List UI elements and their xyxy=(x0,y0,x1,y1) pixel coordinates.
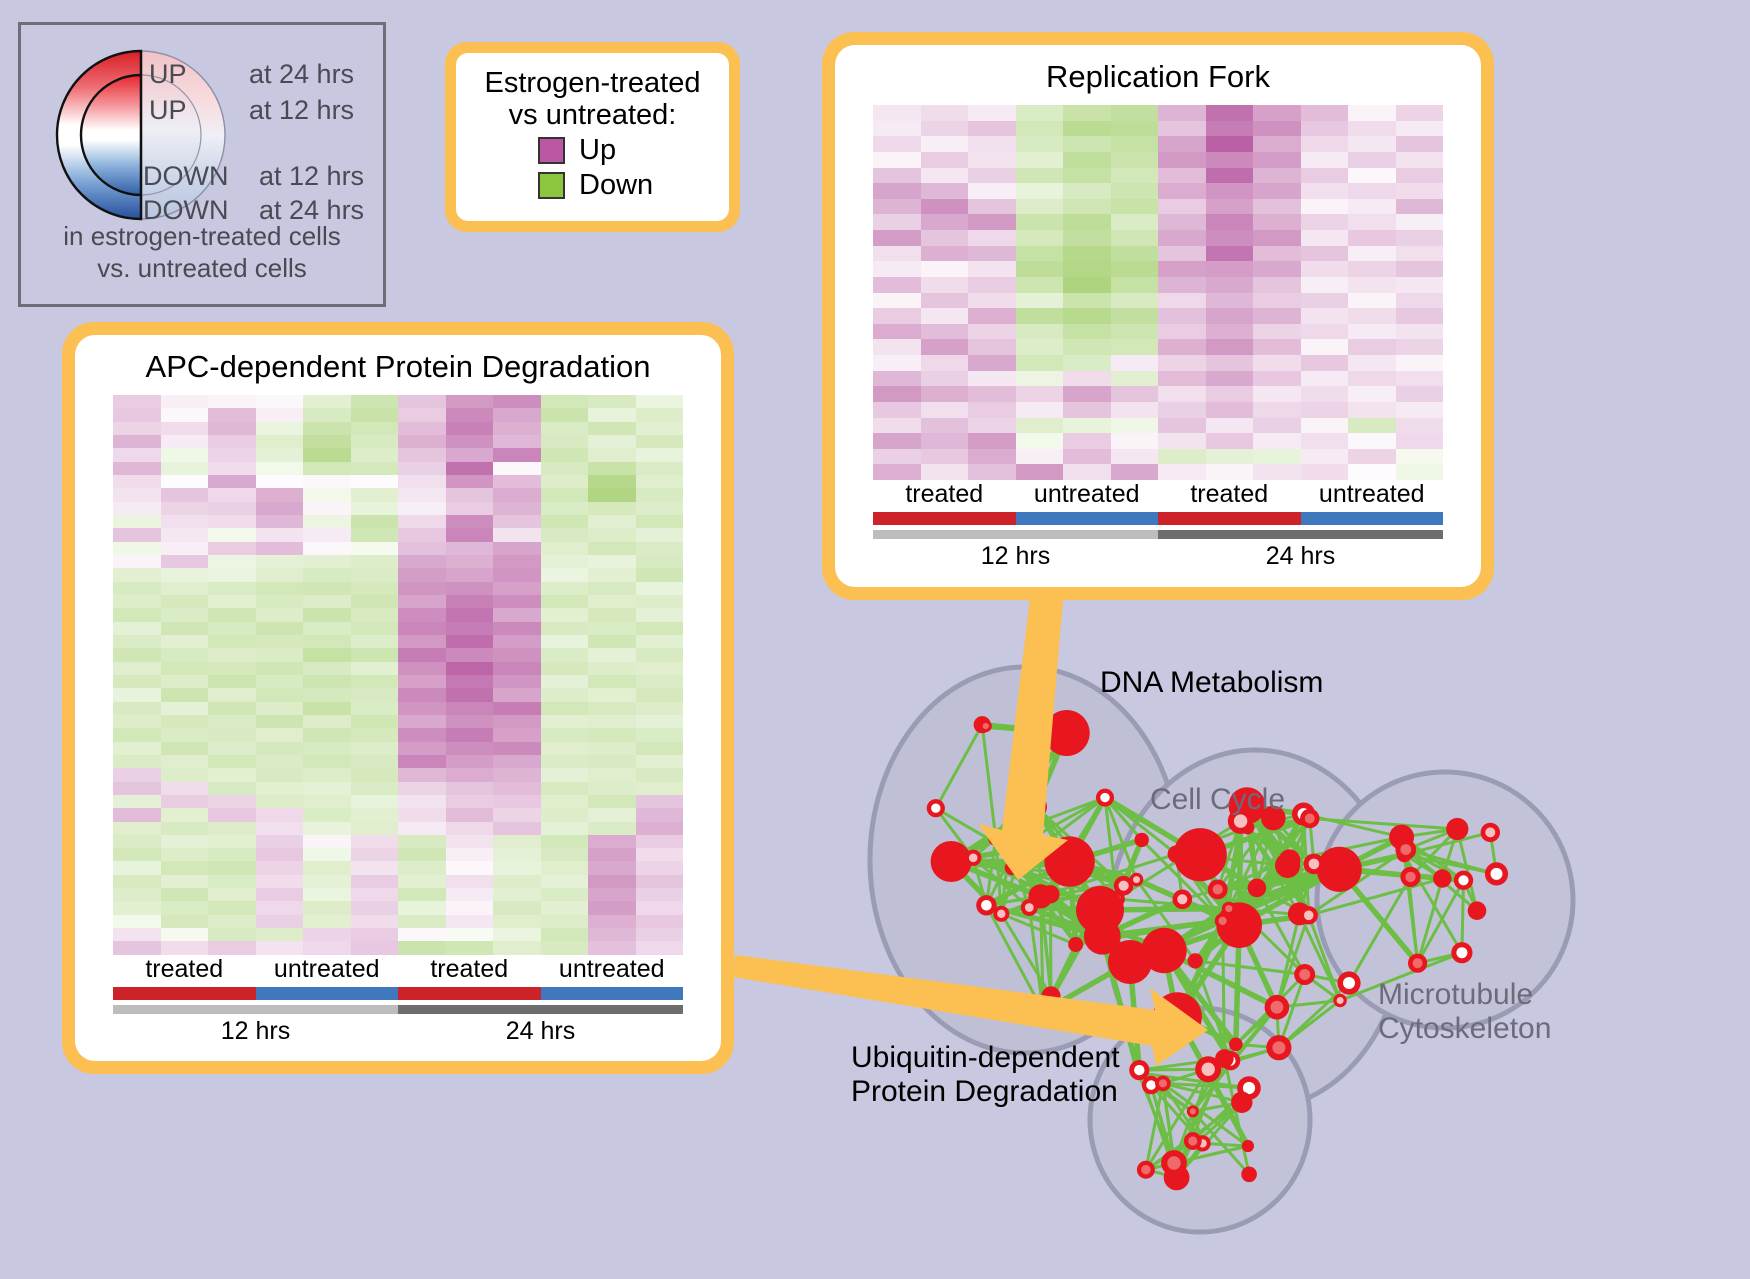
network-node-core xyxy=(1491,868,1503,880)
network-node xyxy=(1168,845,1185,862)
heatmap-cell xyxy=(588,435,636,448)
heatmap-cell xyxy=(1063,246,1111,262)
heatmap-cell xyxy=(303,422,351,435)
heatmap-cell xyxy=(208,888,256,901)
heatmap-cell xyxy=(1348,199,1396,215)
heatmap-cell xyxy=(636,608,684,621)
heatmap-cell xyxy=(113,861,161,874)
heatmap-cell xyxy=(1348,339,1396,355)
heatmap-cell xyxy=(351,742,399,755)
heatmap-cell xyxy=(968,386,1016,402)
bar-untreated-12 xyxy=(1016,512,1159,525)
heatmap-cell xyxy=(256,915,304,928)
heatmap-cell xyxy=(1158,418,1206,434)
heatmap-cell xyxy=(873,355,921,371)
heatmap-cell xyxy=(303,861,351,874)
axis-treatment-bar xyxy=(873,512,1443,525)
heatmap-cell xyxy=(1206,402,1254,418)
cluster-label-microtubule-cytoskeleton: Microtubule Cytoskeleton xyxy=(1378,978,1551,1045)
heatmap-cell xyxy=(636,901,684,914)
heatmap-cell xyxy=(1158,246,1206,262)
heatmap-cell xyxy=(493,462,541,475)
heatmap-cell xyxy=(1396,246,1444,262)
heatmap-cell xyxy=(493,595,541,608)
heatmap-cell xyxy=(161,608,209,621)
heatmap-cell xyxy=(1348,464,1396,480)
heatmap-cell xyxy=(1063,121,1111,137)
heatmap-cell xyxy=(1206,308,1254,324)
bar-treated-24 xyxy=(398,987,541,1000)
heatmap-cell xyxy=(351,422,399,435)
wheel-row-1-time: at 12 hrs xyxy=(249,95,354,126)
heatmap-cell xyxy=(1016,246,1064,262)
network-node xyxy=(1135,833,1149,847)
heatmap-cell xyxy=(161,768,209,781)
heatmap-cell xyxy=(351,755,399,768)
network-node-core xyxy=(1190,1108,1196,1114)
heatmap-cell xyxy=(493,568,541,581)
heatmap-cell xyxy=(303,595,351,608)
heatmap-cell xyxy=(1396,371,1444,387)
heatmap-cell xyxy=(113,542,161,555)
heatmap-cell xyxy=(256,462,304,475)
heatmap-cell xyxy=(541,542,589,555)
heatmap-cell xyxy=(588,408,636,421)
heatmap-cell xyxy=(208,901,256,914)
bar-treated-12 xyxy=(873,512,1016,525)
heatmap-cell xyxy=(208,448,256,461)
axis-group-1: untreated xyxy=(256,955,399,984)
heatmap-cell xyxy=(636,475,684,488)
heatmap-cell xyxy=(208,702,256,715)
heatmap-cell xyxy=(161,755,209,768)
heatmap-cell xyxy=(636,395,684,408)
wheel-row-2-label: DOWN xyxy=(143,161,228,192)
heatmap-cell xyxy=(446,915,494,928)
heatmap-cell xyxy=(446,422,494,435)
network-node-core xyxy=(1146,1080,1156,1090)
heatmap-cell xyxy=(1111,355,1159,371)
heatmap-cell xyxy=(1348,293,1396,309)
heatmap-cell xyxy=(398,675,446,688)
network-node-core xyxy=(1405,872,1415,882)
heatmap-cell xyxy=(493,688,541,701)
heatmap-cell xyxy=(541,608,589,621)
heatmap-cell xyxy=(541,435,589,448)
heatmap-cell xyxy=(921,136,969,152)
heatmap-cell xyxy=(1206,371,1254,387)
heatmap-cell xyxy=(1301,261,1349,277)
bar-treated-12 xyxy=(113,987,256,1000)
heatmap-cell xyxy=(493,742,541,755)
network-node-core xyxy=(997,910,1005,918)
heatmap-cell xyxy=(1063,105,1111,121)
heatmap-cell xyxy=(161,528,209,541)
heatmap-cell xyxy=(1396,277,1444,293)
heatmap-cell xyxy=(398,408,446,421)
heatmap-cell xyxy=(588,648,636,661)
heatmap-cell xyxy=(493,488,541,501)
heatmap-cell xyxy=(208,542,256,555)
network-node xyxy=(1468,901,1487,920)
legend-title-line2: vs untreated: xyxy=(466,99,719,131)
heatmap-cell xyxy=(636,488,684,501)
heatmap-cell xyxy=(493,528,541,541)
heatmap-cell xyxy=(161,928,209,941)
heatmap-cell xyxy=(113,462,161,475)
network-node-core xyxy=(1225,905,1232,912)
heatmap-cell xyxy=(493,502,541,515)
network-node-core xyxy=(1119,881,1129,891)
heatmap-cell xyxy=(446,875,494,888)
heatmap-cell xyxy=(161,835,209,848)
network-node xyxy=(1108,940,1152,984)
heatmap-cell xyxy=(493,662,541,675)
heatmap-cell xyxy=(398,742,446,755)
heatmap-cell xyxy=(493,728,541,741)
heatmap-cell xyxy=(1063,402,1111,418)
apc-degradation-card: APC-dependent Protein Degradation treate… xyxy=(62,322,734,1074)
heatmap-cell xyxy=(1111,136,1159,152)
axis-time-labels: 12 hrs 24 hrs xyxy=(113,1017,683,1046)
heatmap-cell xyxy=(1253,402,1301,418)
heatmap-cell xyxy=(921,230,969,246)
axis-group-0: treated xyxy=(113,955,256,984)
heatmap-cell xyxy=(921,152,969,168)
heatmap-cell xyxy=(1111,433,1159,449)
heatmap-cell xyxy=(446,395,494,408)
heatmap-cell xyxy=(1158,449,1206,465)
network-node-core xyxy=(1343,977,1355,989)
heatmap-cell xyxy=(493,928,541,941)
heatmap-cell xyxy=(1063,261,1111,277)
heatmap-cell xyxy=(256,861,304,874)
heatmap-cell xyxy=(446,608,494,621)
heatmap-cell xyxy=(1111,324,1159,340)
heatmap-cell xyxy=(303,475,351,488)
heatmap-cell xyxy=(1158,402,1206,418)
heatmap-cell xyxy=(636,768,684,781)
heatmap-cell xyxy=(588,795,636,808)
heatmap-cell xyxy=(1111,230,1159,246)
heatmap-cell xyxy=(303,635,351,648)
heatmap-cell xyxy=(161,782,209,795)
heatmap-cell xyxy=(303,622,351,635)
heatmap-cell xyxy=(1016,355,1064,371)
heatmap-cell xyxy=(256,875,304,888)
network-node-core xyxy=(1458,875,1468,885)
network-node-core xyxy=(1213,884,1223,894)
axis-time-1: 24 hrs xyxy=(1158,542,1443,571)
axis-time-bar xyxy=(113,1005,683,1014)
heatmap-cell xyxy=(351,622,399,635)
heatmap-cell xyxy=(921,324,969,340)
heatmap-cell xyxy=(351,542,399,555)
heatmap-cell xyxy=(968,277,1016,293)
heatmap-cell xyxy=(1063,183,1111,199)
heatmap-cell xyxy=(1253,261,1301,277)
heatmap-cell xyxy=(968,246,1016,262)
heatmap-cell xyxy=(303,675,351,688)
heatmap-cell xyxy=(446,408,494,421)
heatmap-cell xyxy=(493,822,541,835)
heatmap-cell xyxy=(1016,386,1064,402)
heatmap-cell xyxy=(493,408,541,421)
heatmap-cell xyxy=(1348,449,1396,465)
heatmap-cell xyxy=(636,848,684,861)
heatmap-cell xyxy=(351,848,399,861)
heatmap-cell xyxy=(1396,324,1444,340)
heatmap-cell xyxy=(921,293,969,309)
heatmap-cell xyxy=(541,648,589,661)
heatmap-cell xyxy=(541,502,589,515)
heatmap-cell xyxy=(446,515,494,528)
heatmap-cell xyxy=(541,635,589,648)
heatmap-cell xyxy=(446,835,494,848)
heatmap-cell xyxy=(113,635,161,648)
heatmap-cell xyxy=(1206,324,1254,340)
heatmap-cell xyxy=(541,848,589,861)
heatmap-cell xyxy=(588,782,636,795)
heatmap-cell xyxy=(398,608,446,621)
heatmap-cell xyxy=(588,755,636,768)
network-node-core xyxy=(1134,1065,1144,1075)
heatmap-cell xyxy=(446,448,494,461)
heatmap-cell xyxy=(351,648,399,661)
network-node xyxy=(1188,953,1203,968)
legend-item-down: Down xyxy=(538,169,719,202)
heatmap-cell xyxy=(588,475,636,488)
heatmap-cell xyxy=(303,835,351,848)
replication-fork-axis: treated untreated treated untreated 12 h… xyxy=(873,480,1443,571)
heatmap-cell xyxy=(256,395,304,408)
heatmap-cell xyxy=(541,861,589,874)
heatmap-cell xyxy=(588,448,636,461)
heatmap-cell xyxy=(921,402,969,418)
heatmap-cell xyxy=(921,433,969,449)
heatmap-cell xyxy=(968,464,1016,480)
heatmap-cell xyxy=(303,901,351,914)
heatmap-cell xyxy=(541,582,589,595)
heatmap-cell xyxy=(208,408,256,421)
heatmap-cell xyxy=(1206,214,1254,230)
heatmap-cell xyxy=(541,568,589,581)
heatmap-cell xyxy=(968,121,1016,137)
heatmap-cell xyxy=(873,433,921,449)
heatmap-cell xyxy=(398,448,446,461)
heatmap-cell xyxy=(398,941,446,954)
heatmap-cell xyxy=(351,662,399,675)
heatmap-cell xyxy=(1158,355,1206,371)
heatmap-cell xyxy=(968,261,1016,277)
heatmap-cell xyxy=(1253,418,1301,434)
heatmap-cell xyxy=(113,688,161,701)
heatmap-cell xyxy=(636,822,684,835)
heatmap-cell xyxy=(161,742,209,755)
heatmap-cell xyxy=(113,888,161,901)
heatmap-cell xyxy=(113,408,161,421)
heatmap-cell xyxy=(256,528,304,541)
network-node xyxy=(1231,1092,1252,1113)
axis-group-2: treated xyxy=(398,955,541,984)
heatmap-cell xyxy=(208,555,256,568)
heatmap-cell xyxy=(1348,121,1396,137)
heatmap-cell xyxy=(1396,230,1444,246)
heatmap-cell xyxy=(161,648,209,661)
heatmap-cell xyxy=(161,595,209,608)
heatmap-cell xyxy=(873,168,921,184)
heatmap-cell xyxy=(398,635,446,648)
heatmap-cell xyxy=(303,662,351,675)
heatmap-cell xyxy=(1063,136,1111,152)
heatmap-cell xyxy=(1016,464,1064,480)
heatmap-cell xyxy=(161,728,209,741)
heatmap-cell xyxy=(256,608,304,621)
heatmap-cell xyxy=(1063,152,1111,168)
heatmap-cell xyxy=(1158,230,1206,246)
heatmap-cell xyxy=(636,808,684,821)
heatmap-cell xyxy=(1301,449,1349,465)
heatmap-cell xyxy=(1301,199,1349,215)
heatmap-cell xyxy=(1016,105,1064,121)
axis-time-labels: 12 hrs 24 hrs xyxy=(873,542,1443,571)
heatmap-cell xyxy=(446,555,494,568)
heatmap-cell xyxy=(873,230,921,246)
network-node-core xyxy=(1400,844,1411,855)
heatmap-cell xyxy=(541,622,589,635)
heatmap-cell xyxy=(493,941,541,954)
cluster-label-ubiquitin-line2: Protein Degradation xyxy=(851,1075,1120,1109)
heatmap-cell xyxy=(1396,433,1444,449)
heatmap-cell xyxy=(921,355,969,371)
network-node-core xyxy=(983,723,989,729)
heatmap-cell xyxy=(1206,339,1254,355)
heatmap-cell xyxy=(113,742,161,755)
heatmap-cell xyxy=(1396,136,1444,152)
network-node xyxy=(1076,886,1124,934)
heatmap-cell xyxy=(873,371,921,387)
heatmap-cell xyxy=(351,462,399,475)
heatmap-cell xyxy=(541,915,589,928)
heatmap-cell xyxy=(446,675,494,688)
network-node xyxy=(1044,710,1090,756)
heatmap-cell xyxy=(208,755,256,768)
network-node-core xyxy=(1413,958,1423,968)
heatmap-cell xyxy=(351,408,399,421)
heatmap-cell xyxy=(398,688,446,701)
heatmap-cell xyxy=(161,715,209,728)
cluster-label-dna-metabolism: DNA Metabolism xyxy=(1100,666,1323,700)
heatmap-cell xyxy=(1016,230,1064,246)
heatmap-cell xyxy=(1206,152,1254,168)
network-node xyxy=(1279,849,1301,871)
heatmap-cell xyxy=(636,595,684,608)
heatmap-cell xyxy=(1158,121,1206,137)
heatmap-cell xyxy=(1396,152,1444,168)
heatmap-cell xyxy=(303,755,351,768)
heatmap-cell xyxy=(1348,246,1396,262)
heatmap-cell xyxy=(1111,168,1159,184)
heatmap-cell xyxy=(493,435,541,448)
heatmap-cell xyxy=(873,199,921,215)
heatmap-cell xyxy=(1301,152,1349,168)
heatmap-cell xyxy=(493,768,541,781)
heatmap-cell xyxy=(303,515,351,528)
heatmap-cell xyxy=(161,622,209,635)
axis-time-1: 24 hrs xyxy=(398,1017,683,1046)
heatmap-cell xyxy=(1158,386,1206,402)
heatmap-cell xyxy=(541,528,589,541)
heatmap-cell xyxy=(113,662,161,675)
heatmap-cell xyxy=(1396,293,1444,309)
heatmap-cell xyxy=(398,395,446,408)
heatmap-cell xyxy=(636,582,684,595)
network-node xyxy=(1044,836,1094,886)
heatmap-cell xyxy=(588,568,636,581)
heatmap-cell xyxy=(873,152,921,168)
heatmap-cell xyxy=(303,915,351,928)
heatmap-cell xyxy=(921,308,969,324)
heatmap-cell xyxy=(588,928,636,941)
heatmap-cell xyxy=(873,464,921,480)
heatmap-cell xyxy=(446,901,494,914)
heatmap-cell xyxy=(921,386,969,402)
heatmap-cell xyxy=(1348,418,1396,434)
heatmap-cell xyxy=(493,675,541,688)
heatmap-cell xyxy=(1348,214,1396,230)
heatmap-cell xyxy=(493,835,541,848)
heatmap-cell xyxy=(636,688,684,701)
heatmap-cell xyxy=(1016,371,1064,387)
network-node-core xyxy=(969,854,978,863)
heatmap-cell xyxy=(256,435,304,448)
heatmap-cell xyxy=(921,199,969,215)
heatmap-cell xyxy=(588,528,636,541)
heatmap-cell xyxy=(541,688,589,701)
heatmap-cell xyxy=(398,622,446,635)
axis-group-names: treated untreated treated untreated xyxy=(113,955,683,984)
network-node xyxy=(1005,861,1020,876)
heatmap-cell xyxy=(1063,355,1111,371)
heatmap-cell xyxy=(636,448,684,461)
heatmap-cell xyxy=(1301,230,1349,246)
heatmap-cell xyxy=(636,515,684,528)
heatmap-cell xyxy=(588,542,636,555)
heatmap-cell xyxy=(446,488,494,501)
heatmap-cell xyxy=(493,782,541,795)
heatmap-cell xyxy=(493,448,541,461)
heatmap-cell xyxy=(351,488,399,501)
heatmap-cell xyxy=(493,475,541,488)
heatmap-cell xyxy=(398,582,446,595)
cluster-label-microtubule-line1: Microtubule xyxy=(1378,978,1551,1012)
heatmap-cell xyxy=(398,542,446,555)
heatmap-cell xyxy=(873,402,921,418)
heatmap-cell xyxy=(541,408,589,421)
heatmap-cell xyxy=(256,555,304,568)
heatmap-cell xyxy=(1396,105,1444,121)
heatmap-cell xyxy=(113,835,161,848)
network-node xyxy=(1241,1167,1257,1183)
heatmap-cell xyxy=(588,728,636,741)
heatmap-cell xyxy=(636,568,684,581)
heatmap-cell xyxy=(1396,386,1444,402)
heatmap-cell xyxy=(161,875,209,888)
network-node-core xyxy=(1005,847,1013,855)
heatmap-cell xyxy=(113,595,161,608)
wheel-row-0-time: at 24 hrs xyxy=(249,59,354,90)
heatmap-cell xyxy=(351,808,399,821)
